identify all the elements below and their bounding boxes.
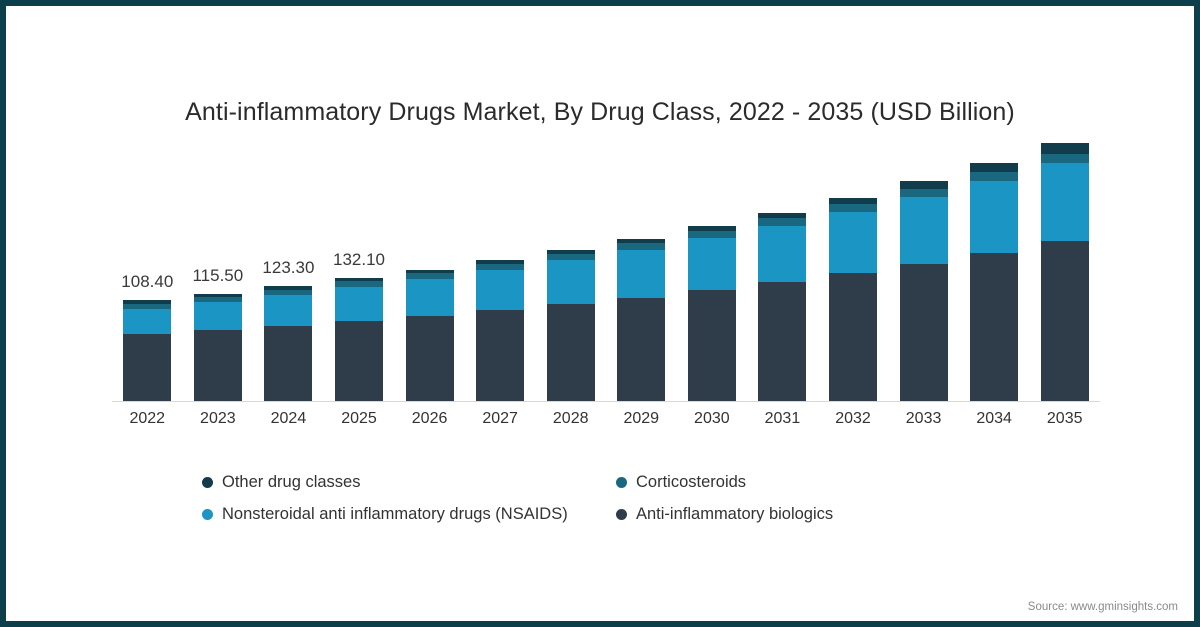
bar-segment <box>123 309 171 334</box>
bar-column-2033[interactable] <box>900 181 948 401</box>
plot-area: 108.40115.50123.30132.10 <box>112 146 1100 402</box>
bar-segment <box>900 181 948 189</box>
bar-segment <box>900 189 948 197</box>
legend-swatch-icon <box>202 477 213 488</box>
bar-segment <box>900 197 948 264</box>
bar-column-2032[interactable] <box>829 198 877 401</box>
bar-segment <box>264 295 312 326</box>
bar-segment <box>758 282 806 401</box>
chart-canvas: Anti-inflammatory Drugs Market, By Drug … <box>6 6 1194 621</box>
bar-column-2035[interactable] <box>1041 143 1089 401</box>
legend-label: Anti-inflammatory biologics <box>636 506 833 523</box>
bar-segment <box>335 287 383 322</box>
x-tick-2029: 2029 <box>611 410 671 428</box>
bar-segment <box>758 218 806 225</box>
bar-segment <box>547 260 595 304</box>
x-tick-2027: 2027 <box>470 410 530 428</box>
bar-segment <box>970 253 1018 401</box>
bar-segment <box>617 250 665 298</box>
legend-swatch-icon <box>202 509 213 520</box>
bar-value-label: 115.50 <box>192 266 243 286</box>
x-tick-2031: 2031 <box>752 410 812 428</box>
bar-column-2029[interactable] <box>617 239 665 401</box>
bar-segment <box>123 334 171 401</box>
bar-segment <box>617 298 665 401</box>
legend-item-other-drug-classes[interactable]: Other drug classes <box>202 474 360 491</box>
bar-segment <box>970 163 1018 172</box>
bar-segment <box>1041 154 1089 163</box>
bar-segment <box>194 330 242 401</box>
bar-column-2034[interactable] <box>970 163 1018 401</box>
bar-segment <box>476 270 524 311</box>
x-tick-2028: 2028 <box>541 410 601 428</box>
bar-segment <box>688 238 736 290</box>
legend-row-1: Other drug classes Corticosteroids <box>202 474 962 506</box>
legend-item-corticosteroids[interactable]: Corticosteroids <box>616 474 746 491</box>
legend-swatch-icon <box>616 509 627 520</box>
x-tick-2024: 2024 <box>258 410 318 428</box>
x-tick-2022: 2022 <box>117 410 177 428</box>
bar-segment <box>1041 143 1089 154</box>
bar-segment <box>970 172 1018 181</box>
bar-segment <box>406 316 454 401</box>
bar-column-2025[interactable] <box>335 278 383 401</box>
x-axis-line <box>112 401 1100 402</box>
bar-column-2027[interactable] <box>476 260 524 401</box>
bar-segment <box>1041 163 1089 242</box>
bar-value-label: 123.30 <box>262 258 314 278</box>
legend-label: Corticosteroids <box>636 474 746 491</box>
x-tick-2025: 2025 <box>329 410 389 428</box>
bar-column-2028[interactable] <box>547 250 595 401</box>
bar-column-2030[interactable] <box>688 226 736 401</box>
bar-segment <box>617 243 665 250</box>
chart-title: Anti-inflammatory Drugs Market, By Drug … <box>6 98 1194 127</box>
bar-column-2023[interactable] <box>194 294 242 401</box>
x-tick-2023: 2023 <box>188 410 248 428</box>
bar-segment <box>758 226 806 282</box>
x-axis-tick-labels: 2022202320242025202620272028202920302031… <box>112 410 1100 436</box>
x-tick-2032: 2032 <box>823 410 883 428</box>
source-attribution: Source: www.gminsights.com <box>1028 601 1178 613</box>
bar-column-2031[interactable] <box>758 213 806 401</box>
bar-segment <box>829 273 877 401</box>
legend-label: Other drug classes <box>222 474 360 491</box>
bar-segment <box>547 304 595 401</box>
bar-segment <box>335 321 383 401</box>
bar-segment <box>829 212 877 273</box>
bar-segment <box>688 231 736 238</box>
x-tick-2034: 2034 <box>964 410 1024 428</box>
bar-column-2024[interactable] <box>264 286 312 401</box>
legend-row-2: Nonsteroidal anti inflammatory drugs (NS… <box>202 506 962 538</box>
bar-segment <box>970 181 1018 253</box>
bar-segment <box>900 264 948 401</box>
bar-segment <box>264 326 312 401</box>
chart-frame: Anti-inflammatory Drugs Market, By Drug … <box>0 0 1200 627</box>
bar-segment <box>1041 241 1089 400</box>
legend-item-anti-inflammatory-biologics[interactable]: Anti-inflammatory biologics <box>616 506 833 523</box>
bar-segment <box>829 204 877 212</box>
bar-column-2026[interactable] <box>406 270 454 401</box>
bar-segment <box>688 290 736 401</box>
bar-value-label: 108.40 <box>121 272 173 292</box>
legend-label: Nonsteroidal anti inflammatory drugs (NS… <box>222 506 568 523</box>
x-tick-2026: 2026 <box>400 410 460 428</box>
x-tick-2033: 2033 <box>894 410 954 428</box>
legend-swatch-icon <box>616 477 627 488</box>
x-tick-2030: 2030 <box>682 410 742 428</box>
bar-segment <box>406 279 454 317</box>
chart-legend: Other drug classes Corticosteroids Nonst… <box>202 474 962 538</box>
x-tick-2035: 2035 <box>1035 410 1095 428</box>
bar-value-label: 132.10 <box>333 250 385 270</box>
bar-column-2022[interactable] <box>123 300 171 401</box>
bar-segment <box>476 310 524 401</box>
legend-item-nsaids[interactable]: Nonsteroidal anti inflammatory drugs (NS… <box>202 506 568 523</box>
bar-segment <box>194 302 242 330</box>
